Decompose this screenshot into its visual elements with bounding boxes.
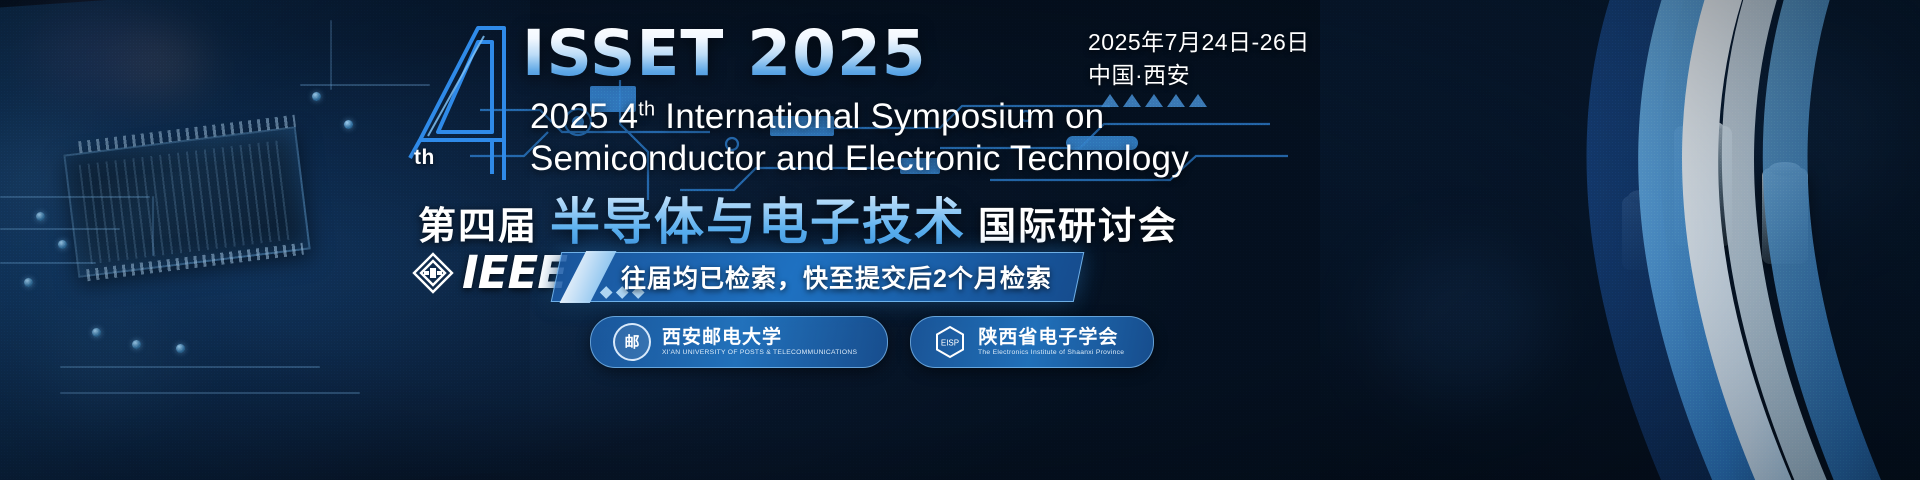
sponsor-name-cn: 西安邮电大学 — [662, 327, 865, 348]
conference-location: 中国·西安 — [1088, 59, 1310, 92]
sponsor-name-en: XI'AN UNIVERSITY OF POSTS & TELECOMMUNIC… — [662, 349, 857, 357]
diamond-icon — [600, 286, 613, 299]
badge-label: 往届均已检索，快至提交后2个月检索 — [621, 259, 1052, 295]
status-badge: 往届均已检索，快至提交后2个月检索 — [551, 252, 1085, 302]
conference-date: 2025年7月24日-26日 — [1088, 26, 1310, 59]
chinese-title-suffix: 国际研讨会 — [978, 195, 1178, 250]
eisp-logo-glyph: EISP — [941, 339, 959, 348]
eisp-hexagon-shape: EISP — [933, 325, 967, 359]
page-title: ISSET 2025 — [522, 22, 927, 85]
chinese-title-main: 半导体与电子技术 — [550, 182, 966, 254]
ieee-diamond-logo-icon — [410, 250, 456, 296]
numeral-ordinal-suffix: th — [414, 146, 435, 170]
date-location-block: 2025年7月24日-26日 中国·西安 — [1088, 26, 1310, 91]
english-title-line-1: 2025 4th International Symposium on — [530, 97, 1104, 137]
sponsor-text: 陕西省电子学会 The Electronics Institute of Sha… — [978, 327, 1130, 356]
english-title-rest: International Symposium on — [655, 97, 1104, 136]
eisp-hexagon-icon: EISP — [933, 325, 967, 359]
english-title-superscript: th — [638, 98, 655, 120]
sponsor-text: 西安邮电大学 XI'AN UNIVERSITY OF POSTS & TELEC… — [662, 327, 865, 356]
university-seal-glyph: 邮 — [624, 335, 639, 350]
sponsor-item-eisp: EISP 陕西省电子学会 The Electronics Institute o… — [910, 316, 1153, 368]
sponsor-item-xupt: 邮 西安邮电大学 XI'AN UNIVERSITY OF POSTS & TEL… — [590, 316, 888, 368]
english-title-prefix: 2025 4 — [530, 97, 638, 136]
sponsor-name-en: The Electronics Institute of Shaanxi Pro… — [978, 349, 1124, 357]
university-seal-icon: 邮 — [613, 323, 651, 361]
ieee-logo: IEEE — [410, 246, 567, 299]
chinese-title-prefix: 第四届 — [418, 195, 538, 250]
conference-banner: th ISSET 2025 2025年7月24日-26日 中国·西安 2025 … — [0, 0, 1920, 480]
english-title-line-2: Semiconductor and Electronic Technology — [530, 139, 1189, 179]
ieee-label: IEEE — [462, 246, 567, 299]
banner-content: th ISSET 2025 2025年7月24日-26日 中国·西安 2025 … — [0, 0, 1920, 480]
chinese-title: 第四届 半导体与电子技术 国际研讨会 — [418, 182, 1178, 254]
sponsor-list: 邮 西安邮电大学 XI'AN UNIVERSITY OF POSTS & TEL… — [590, 316, 1154, 368]
sponsor-name-cn: 陕西省电子学会 — [978, 327, 1130, 348]
